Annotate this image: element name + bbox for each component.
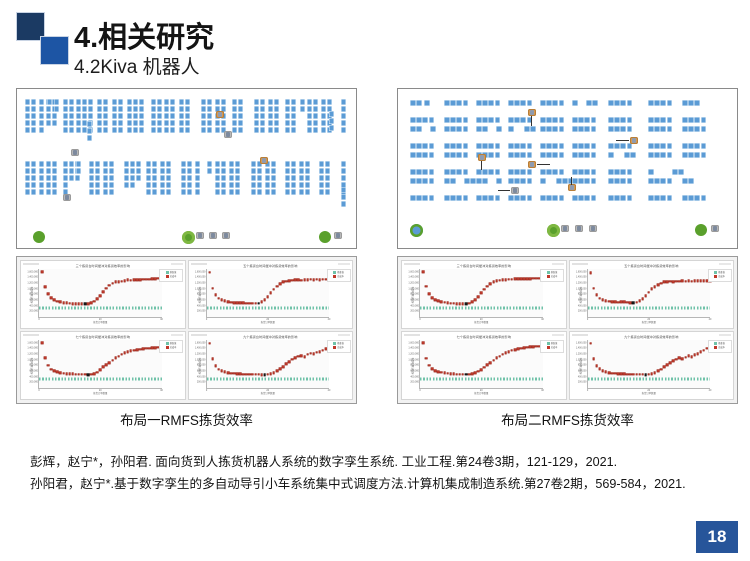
shelf-block — [151, 120, 156, 126]
shelf-block — [627, 117, 633, 123]
shelf-block — [152, 182, 157, 188]
robot-icon — [630, 137, 638, 144]
chart-y-tick: 1,200,000 — [195, 282, 206, 285]
shelf-block — [46, 120, 51, 126]
shelf-block — [63, 113, 68, 119]
picking-station-icon — [33, 231, 45, 243]
chart-y-tick: 400,000 — [410, 304, 419, 307]
shelf-block — [271, 189, 276, 195]
shelf-block — [648, 126, 654, 132]
chart-panel[interactable]: 三个拣货台时间缓冲对拣货效率的影响拣货作业总成本1,600,0001,400,0… — [401, 260, 567, 329]
shelf-block — [69, 161, 74, 167]
shelf-block — [608, 169, 614, 175]
chart-y-tick: 1,600,000 — [195, 270, 206, 273]
shelf-block — [410, 152, 416, 158]
shelf-block — [546, 117, 552, 123]
shelf-block — [25, 168, 30, 174]
shelf-block — [235, 182, 240, 188]
shelf-block — [470, 178, 476, 184]
chart-panel[interactable]: 七个拣货台时间缓冲对拣货效率的影响拣货作业总成本1,600,0001,400,0… — [20, 331, 186, 400]
shelf-block — [139, 113, 144, 119]
shelf-block — [476, 117, 482, 123]
chart-legend-item: 总成本 — [161, 346, 181, 350]
chart-panel[interactable]: 五个拣货台时间缓冲对拣货效率的影响拣货作业总成本1,600,0001,400,0… — [569, 260, 735, 329]
chart-y-tick: 1,600,000 — [195, 341, 206, 344]
chart-x-tick: 0 — [587, 389, 588, 392]
chart-y-tick: 1,600,000 — [408, 341, 419, 344]
shelf-block — [46, 161, 51, 167]
shelf-block — [552, 143, 558, 149]
shelf-block — [195, 189, 200, 195]
shelf-block — [456, 169, 462, 175]
shelf-block — [688, 117, 694, 123]
chart-y-tick: 1,600,000 — [576, 270, 587, 273]
chart-data-point — [428, 364, 431, 367]
shelf-block — [89, 161, 94, 167]
shelf-block — [540, 126, 546, 132]
shelf-block — [608, 195, 614, 201]
chart-y-tick: 800,000 — [29, 364, 38, 367]
shelf-block — [608, 100, 614, 106]
shelf-block — [265, 182, 270, 188]
shelf-block — [591, 126, 597, 132]
chart-legend-item: 总成本 — [542, 346, 562, 350]
shelf-block — [682, 195, 688, 201]
shelf-block — [69, 168, 74, 174]
shelf-block — [450, 195, 456, 201]
shelf-block — [476, 178, 482, 184]
shelf-block — [46, 175, 51, 181]
chart-legend-item: 总成本 — [329, 346, 349, 350]
robot-icon — [224, 131, 232, 138]
shelf-block — [488, 169, 494, 175]
shelf-block — [614, 117, 620, 123]
shelf-block — [54, 99, 59, 105]
robot-icon — [575, 225, 583, 232]
shelf-block — [185, 106, 190, 112]
shelf-block — [232, 99, 237, 105]
shelf-block — [109, 168, 114, 174]
shelf-block — [319, 168, 324, 174]
chart-y-tick: 800,000 — [29, 293, 38, 296]
shelf-block — [195, 175, 200, 181]
shelf-block — [305, 175, 310, 181]
shelf-block — [146, 182, 151, 188]
shelf-block — [450, 126, 456, 132]
shelf-block — [572, 178, 578, 184]
robot-icon — [528, 161, 536, 168]
chart-y-tick: 1,200,000 — [195, 353, 206, 356]
shelf-block — [291, 120, 296, 126]
shelf-block — [630, 152, 636, 158]
shelf-block — [444, 169, 450, 175]
chart-data-point — [44, 357, 47, 360]
chart-data-point — [47, 364, 50, 367]
shelf-block — [694, 100, 700, 106]
chart-data-point — [486, 285, 489, 288]
chart-data-point — [477, 295, 480, 298]
chart-data-point — [474, 298, 477, 301]
robot-icon — [528, 109, 536, 116]
shelf-block — [341, 106, 346, 112]
shelf-block — [540, 152, 546, 158]
chart-data-point — [595, 364, 598, 367]
shelf-block — [130, 168, 135, 174]
chart-panel[interactable]: 七个拣货台时间缓冲对拣货效率的影响拣货作业总成本1,600,0001,400,0… — [401, 331, 567, 400]
shelf-block — [660, 117, 666, 123]
shelf-block — [187, 189, 192, 195]
shelf-block — [694, 126, 700, 132]
chart-title: 五个拣货台时间缓冲对拣货效率的影响 — [570, 263, 734, 268]
shelf-block — [614, 126, 620, 132]
shelf-block — [463, 117, 469, 123]
chart-data-point — [425, 285, 428, 288]
shelf-block — [95, 168, 100, 174]
shelf-block — [215, 99, 220, 105]
shelf-block — [444, 195, 450, 201]
shelf-block — [496, 126, 502, 132]
chart-y-tick: 400,000 — [578, 375, 587, 378]
shelf-block — [97, 127, 102, 133]
robot-icon — [711, 225, 719, 232]
shelf-block — [164, 120, 169, 126]
chart-data-point — [108, 284, 111, 287]
shelf-block — [482, 195, 488, 201]
shelf-block — [97, 113, 102, 119]
chart-plot-area: 1,600,0001,400,0001,200,0001,000,000800,… — [419, 269, 543, 318]
shelf-block — [46, 189, 51, 195]
shelf-block — [329, 118, 334, 124]
shelf-block — [410, 143, 416, 149]
shelf-block — [552, 100, 558, 106]
chart-x-tick: 40 — [160, 318, 163, 321]
shelf-block — [25, 127, 30, 133]
shelf-block — [257, 168, 262, 174]
chart-data-point — [428, 292, 431, 295]
shelf-block — [112, 120, 117, 126]
shelf-block — [271, 161, 276, 167]
shelf-block — [207, 113, 212, 119]
chart-data-point — [483, 288, 486, 291]
shelf-block — [514, 152, 520, 158]
caption-layout-one: 布局一RMFS拣货效率 — [16, 409, 357, 429]
shelf-block — [46, 106, 51, 112]
shelf-block — [52, 189, 57, 195]
shelf-block — [608, 143, 614, 149]
shelf-block — [660, 126, 666, 132]
shelf-block — [271, 168, 276, 174]
shelf-block — [201, 99, 206, 105]
shelf-block — [274, 106, 279, 112]
shelf-block — [25, 189, 30, 195]
robot-icon — [260, 157, 268, 164]
shelf-block — [285, 106, 290, 112]
shelf-block — [530, 126, 536, 132]
shelf-block — [450, 143, 456, 149]
shelf-block — [207, 106, 212, 112]
chart-data-point — [489, 361, 492, 364]
shelf-block — [285, 120, 290, 126]
shelf-block — [260, 120, 265, 126]
shelf-block — [187, 168, 192, 174]
shelf-block — [556, 178, 562, 184]
shelf-block — [146, 175, 151, 181]
chart-data-point — [273, 288, 276, 291]
chart-y-tick: 1,200,000 — [576, 282, 587, 285]
shelf-block — [31, 161, 36, 167]
shelf-block — [39, 189, 44, 195]
shelf-block — [112, 106, 117, 112]
chart-data-point — [41, 271, 44, 274]
shelf-block — [591, 152, 597, 158]
chart-plot-area: 1,600,0001,400,0001,200,0001,000,000800,… — [587, 269, 711, 318]
shelf-block — [89, 175, 94, 181]
shelf-block — [410, 100, 416, 106]
shelf-block — [559, 143, 565, 149]
shelf-block — [488, 100, 494, 106]
legend-swatch-baseline — [547, 271, 550, 274]
shelf-block — [319, 182, 324, 188]
shelf-block — [299, 168, 304, 174]
shelf-block — [229, 168, 234, 174]
shelf-block — [429, 152, 435, 158]
shelf-block — [456, 126, 462, 132]
shelf-block — [608, 178, 614, 184]
shelf-block — [76, 106, 81, 112]
chart-y-tick: 400,000 — [29, 375, 38, 378]
shelf-block — [232, 127, 237, 133]
shelf-block — [667, 143, 673, 149]
shelf-block — [25, 120, 30, 126]
chart-plot-area: 1,600,0001,400,0001,200,0001,000,000800,… — [206, 340, 330, 389]
shelf-block — [76, 113, 81, 119]
shelf-block — [274, 99, 279, 105]
shelf-block — [416, 152, 422, 158]
shelf-block — [300, 106, 305, 112]
shelf-block — [238, 113, 243, 119]
robot-icon — [568, 184, 576, 191]
shelf-block — [25, 113, 30, 119]
shelf-block — [181, 168, 186, 174]
chart-panel[interactable]: 九个拣货台时间缓冲对拣货效率的影响拣货作业总成本1,600,0001,400,0… — [188, 331, 354, 400]
shelf-block — [215, 189, 220, 195]
robot-direction-arrow — [616, 140, 629, 141]
chart-data-point — [471, 301, 474, 304]
shelf-block — [63, 120, 68, 126]
shelf-block — [578, 178, 584, 184]
chart-title: 三个拣货台时间缓冲对拣货效率的影响 — [402, 263, 566, 268]
shelf-block — [559, 195, 565, 201]
shelf-block — [229, 161, 234, 167]
shelf-block — [627, 100, 633, 106]
robot-icon — [222, 232, 230, 239]
shelf-block — [201, 120, 206, 126]
chart-data-point — [592, 357, 595, 360]
shelf-block — [25, 99, 30, 105]
shelf-block — [291, 175, 296, 181]
chart-data-point — [589, 271, 592, 274]
chart-title: 三个拣货台时间缓冲对拣货效率的影响 — [21, 263, 185, 268]
chart-baseline-series — [420, 306, 543, 309]
shelf-block — [667, 126, 673, 132]
shelf-block — [307, 99, 312, 105]
shelf-block — [170, 99, 175, 105]
chart-x-tick: 0 — [206, 318, 207, 321]
shelf-block — [164, 127, 169, 133]
chart-data-point — [263, 298, 266, 301]
shelf-block — [185, 127, 190, 133]
shelf-block — [410, 117, 416, 123]
chart-data-point — [214, 294, 217, 297]
chart-legend: 基准值总成本 — [540, 340, 564, 353]
shelf-block — [444, 117, 450, 123]
shelf-block — [584, 178, 590, 184]
shelf-block — [463, 169, 469, 175]
shelf-block — [39, 168, 44, 174]
shelf-block — [341, 127, 346, 133]
shelf-block — [591, 143, 597, 149]
shelf-block — [682, 178, 688, 184]
shelf-block — [319, 189, 324, 195]
shelf-block — [552, 195, 558, 201]
chart-data-point — [303, 355, 306, 358]
shelf-block — [552, 169, 558, 175]
chart-x-tick: 40 — [160, 389, 163, 392]
shelf-block — [701, 126, 707, 132]
shelf-block — [139, 99, 144, 105]
chart-legend: 基准值总成本 — [708, 269, 732, 282]
shelf-block — [268, 120, 273, 126]
shelf-block — [97, 99, 102, 105]
shelf-block — [291, 99, 296, 105]
robot-icon — [478, 154, 486, 161]
shelf-block — [313, 113, 318, 119]
shelf-block — [620, 169, 626, 175]
shelf-block — [694, 195, 700, 201]
shelf-block — [456, 195, 462, 201]
shelf-block — [572, 195, 578, 201]
shelf-block — [416, 195, 422, 201]
shelf-block — [25, 175, 30, 181]
chart-panel[interactable]: 三个拣货台时间缓冲对拣货效率的影响拣货作业总成本1,600,0001,400,0… — [20, 260, 186, 329]
shelf-block — [285, 189, 290, 195]
shelf-block — [482, 117, 488, 123]
shelf-block — [520, 195, 526, 201]
shelf-block — [76, 99, 81, 105]
shelf-block — [265, 175, 270, 181]
shelf-block — [157, 127, 162, 133]
chart-y-tick: 1,400,000 — [408, 276, 419, 279]
chart-baseline-series — [207, 377, 330, 380]
shelf-block — [146, 189, 151, 195]
shelf-block — [88, 99, 93, 105]
shelf-block — [152, 175, 157, 181]
shelf-block — [260, 127, 265, 133]
shelf-block — [229, 182, 234, 188]
warehouse-layout-one-canvas — [19, 91, 354, 246]
shelf-block — [166, 168, 171, 174]
page-number-badge: 18 — [696, 521, 738, 553]
shelf-block — [166, 182, 171, 188]
shelf-block — [166, 175, 171, 181]
shelf-block — [103, 161, 108, 167]
shelf-block — [667, 195, 673, 201]
shelf-block — [179, 106, 184, 112]
shelf-block — [422, 152, 428, 158]
chart-legend: 基准值总成本 — [159, 340, 183, 353]
shelf-block — [321, 127, 326, 133]
shelf-block — [31, 189, 36, 195]
chart-legend: 基准值总成本 — [540, 269, 564, 282]
shelf-block — [300, 99, 305, 105]
shelf-block — [450, 117, 456, 123]
shelf-block — [410, 178, 416, 184]
robot-direction-arrow — [531, 116, 532, 126]
chart-panel[interactable]: 九个拣货台时间缓冲对拣货效率的影响拣货作业总成本1,600,0001,400,0… — [569, 331, 735, 400]
shelf-block — [170, 120, 175, 126]
shelf-block — [69, 175, 74, 181]
shelf-block — [124, 182, 129, 188]
shelf-block — [103, 106, 108, 112]
chart-x-tick: 0 — [38, 318, 39, 321]
shelf-block — [329, 125, 334, 131]
shelf-block — [482, 100, 488, 106]
shelf-block — [305, 182, 310, 188]
shelf-block — [654, 126, 660, 132]
shelf-block — [667, 117, 673, 123]
shelf-block — [660, 100, 666, 106]
robot-icon — [511, 187, 519, 194]
shelf-block — [103, 189, 108, 195]
shelf-block — [207, 168, 212, 174]
shelf-block — [139, 106, 144, 112]
shelf-block — [39, 120, 44, 126]
shelf-block — [321, 99, 326, 105]
shelf-block — [495, 117, 501, 123]
shelf-block — [527, 178, 533, 184]
shelf-block — [540, 117, 546, 123]
shelf-block — [341, 187, 346, 193]
shelf-block — [688, 100, 694, 106]
reference-item: 彭辉，赵宁*，孙阳君. 面向货到人拣货机器人系统的数字孪生系统. 工业工程.第2… — [30, 452, 720, 472]
shelf-block — [133, 113, 138, 119]
shelf-block — [422, 178, 428, 184]
shelf-block — [103, 182, 108, 188]
chart-grid-layout-one: 三个拣货台时间缓冲对拣货效率的影响拣货作业总成本1,600,0001,400,0… — [16, 256, 357, 404]
legend-swatch-baseline — [547, 342, 550, 345]
shelf-block — [82, 106, 87, 112]
shelf-block — [82, 113, 87, 119]
chart-data-point — [663, 366, 666, 369]
shelf-block — [648, 195, 654, 201]
shelf-block — [313, 106, 318, 112]
chart-y-tick: 1,400,000 — [195, 347, 206, 350]
shelf-block — [584, 143, 590, 149]
chart-panel[interactable]: 五个拣货台时间缓冲对拣货效率的影响拣货作业总成本1,600,0001,400,0… — [188, 260, 354, 329]
shelf-block — [124, 161, 129, 167]
shelf-block — [179, 99, 184, 105]
shelf-block — [235, 161, 240, 167]
shelf-block — [238, 127, 243, 133]
shelf-block — [152, 189, 157, 195]
chart-data-point — [285, 363, 288, 366]
shelf-block — [627, 126, 633, 132]
shelf-block — [251, 175, 256, 181]
shelf-block — [151, 99, 156, 105]
shelf-block — [614, 143, 620, 149]
shelf-block — [257, 175, 262, 181]
legend-swatch-series — [166, 275, 169, 278]
